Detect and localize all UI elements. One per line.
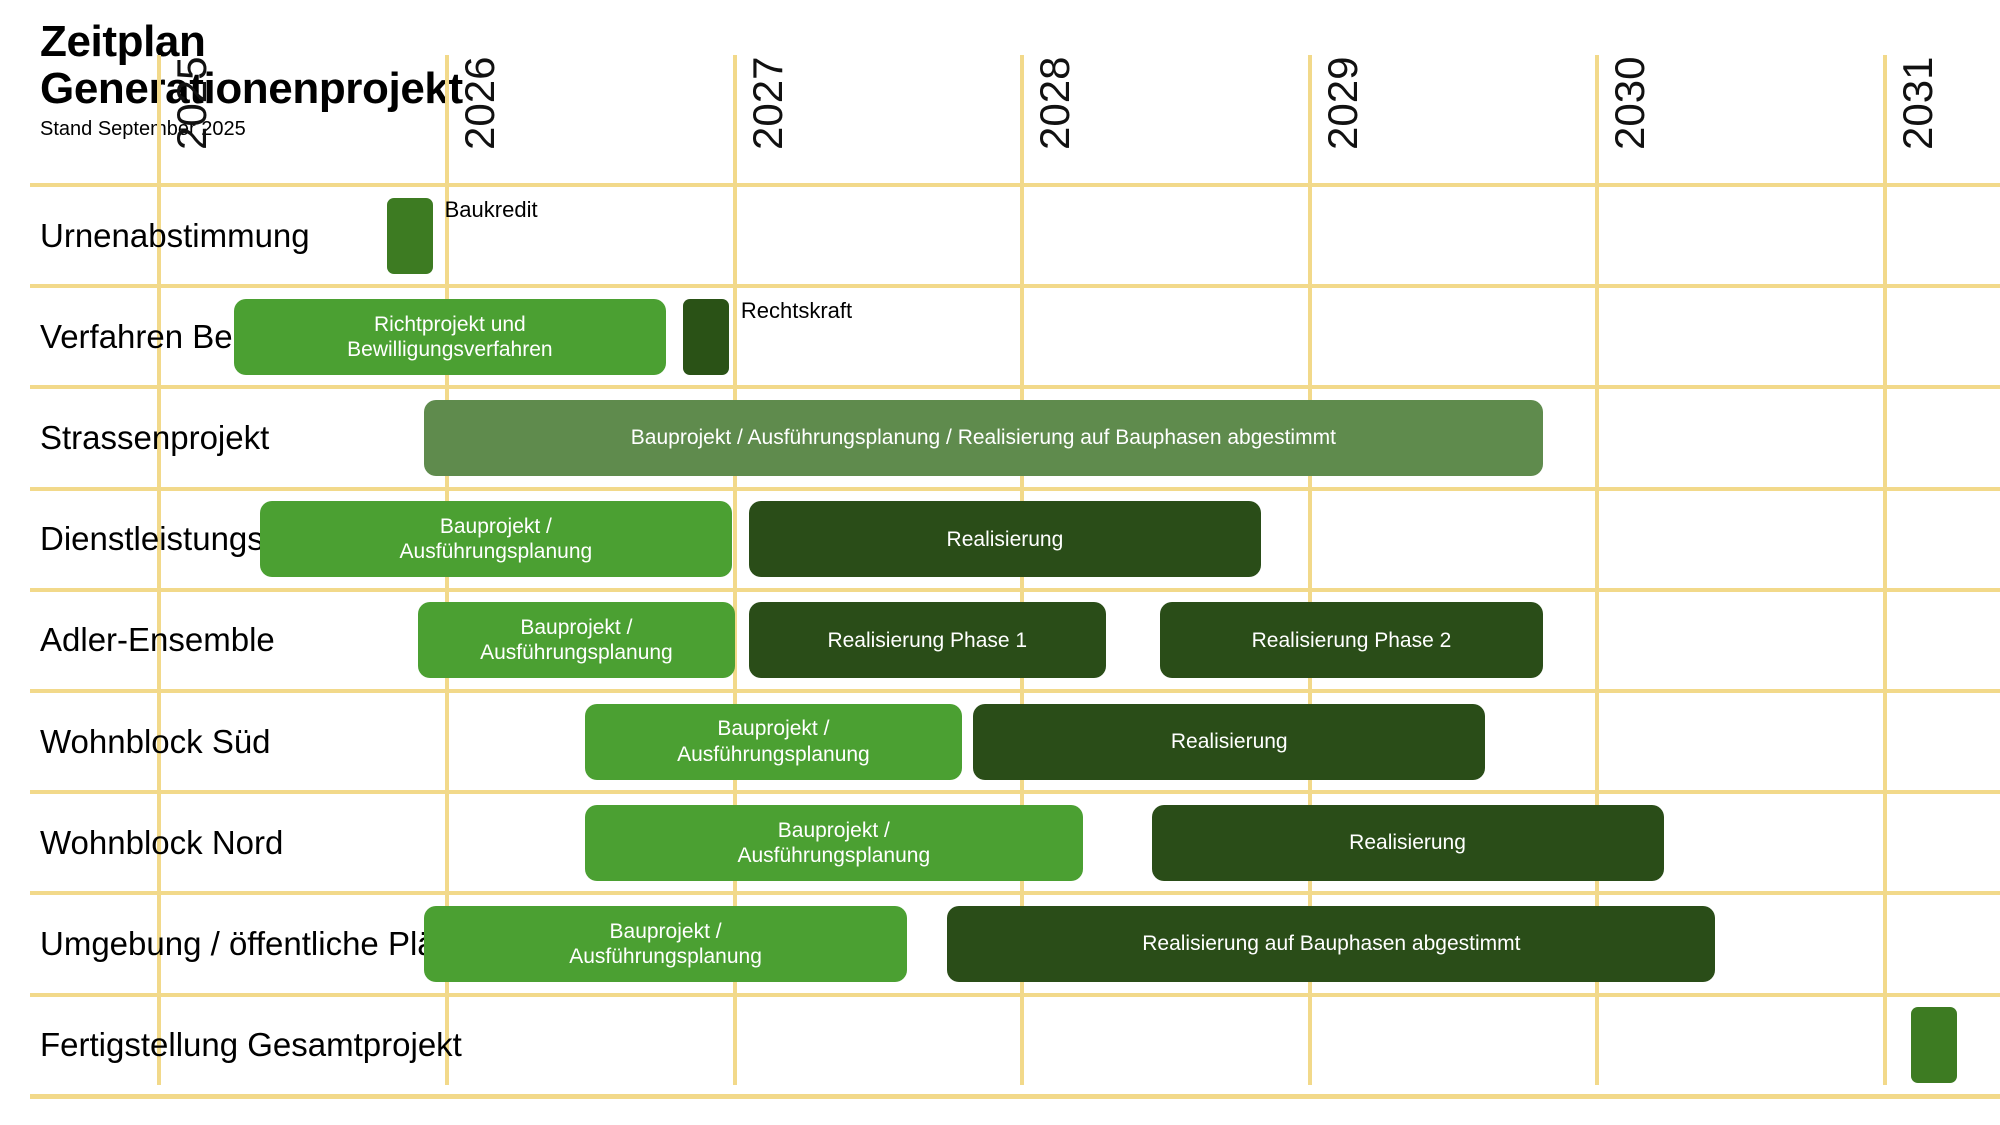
gantt-bar[interactable]: Realisierung (1152, 805, 1664, 881)
gantt-bar[interactable]: Realisierung (749, 501, 1261, 577)
gantt-bar[interactable]: Richtprojekt und Bewilligungsverfahren (234, 299, 665, 375)
row-separator-0 (30, 183, 2000, 187)
year-label-2027: 2027 (744, 30, 794, 150)
gantt-bar[interactable]: Realisierung Phase 1 (749, 602, 1106, 678)
year-label-2025: 2025 (168, 30, 218, 150)
row-separator-3 (30, 487, 2000, 491)
gantt-bar-label: Realisierung (1349, 830, 1466, 855)
gantt-bar-label: Realisierung (1171, 729, 1288, 754)
year-label-2026: 2026 (456, 30, 506, 150)
row-separator-7 (30, 891, 2000, 895)
gantt-bar-label: Realisierung Phase 2 (1252, 628, 1452, 653)
gantt-bar[interactable] (387, 198, 433, 274)
gantt-bar-label: Bauprojekt / Ausführungsplanung (569, 919, 762, 969)
milestone-caption: Rechtskraft (741, 300, 852, 322)
row-separator-9 (30, 1094, 2000, 1099)
gantt-bar[interactable]: Realisierung auf Bauphasen abgestimmt (947, 906, 1715, 982)
gantt-bar-label: Richtprojekt und Bewilligungsverfahren (347, 312, 552, 362)
gantt-bar-label: Bauprojekt / Ausführungsplanung / Realis… (631, 425, 1336, 450)
row-separator-4 (30, 588, 2000, 592)
row-label-urnenabstimmung: Urnenabstimmung (40, 219, 310, 252)
row-label-wohnblock-nord: Wohnblock Nord (40, 826, 283, 859)
gantt-bar[interactable]: Bauprojekt / Ausführungsplanung (260, 501, 732, 577)
row-separator-5 (30, 689, 2000, 693)
gantt-chart: Zeitplan Generationenprojekt Stand Septe… (0, 0, 2000, 1125)
page-title-line-1: Zeitplan (40, 18, 660, 65)
year-label-2030: 2030 (1606, 30, 1656, 150)
gantt-bar[interactable]: Bauprojekt / Ausführungsplanung / Realis… (424, 400, 1543, 476)
gantt-bar[interactable]: Bauprojekt / Ausführungsplanung (418, 602, 734, 678)
row-label-umgebung-offentliche-platze: Umgebung / öffentliche Plätze (40, 927, 480, 960)
gantt-bar[interactable]: Bauprojekt / Ausführungsplanung (424, 906, 907, 982)
gantt-bar-label: Realisierung auf Bauphasen abgestimmt (1142, 931, 1520, 956)
gantt-bar[interactable] (1911, 1007, 1957, 1083)
page-title-line-2: Generationenprojekt (40, 65, 660, 112)
gantt-bar[interactable]: Realisierung Phase 2 (1160, 602, 1542, 678)
title-block: Zeitplan Generationenprojekt Stand Septe… (40, 18, 660, 140)
gantt-bar-label: Bauprojekt / Ausführungsplanung (737, 818, 930, 868)
gantt-bar[interactable]: Realisierung (973, 704, 1485, 780)
row-separator-6 (30, 790, 2000, 794)
row-separator-1 (30, 284, 2000, 288)
gantt-bar-label: Bauprojekt / Ausführungsplanung (480, 615, 673, 665)
year-label-2029: 2029 (1319, 30, 1369, 150)
row-separator-2 (30, 385, 2000, 389)
row-separator-8 (30, 993, 2000, 997)
milestone-caption: Baukredit (445, 199, 538, 221)
gridline-year-2031 (1883, 55, 1887, 1085)
gantt-bar-label: Bauprojekt / Ausführungsplanung (400, 514, 593, 564)
row-label-adler-ensemble: Adler-Ensemble (40, 623, 275, 656)
gantt-bar[interactable] (683, 299, 729, 375)
row-label-strassenprojekt: Strassenprojekt (40, 421, 269, 454)
year-label-2028: 2028 (1031, 30, 1081, 150)
gantt-bar-label: Realisierung Phase 1 (827, 628, 1027, 653)
page-subtitle: Stand September 2025 (40, 118, 660, 140)
year-label-2031: 2031 (1894, 30, 1944, 150)
gantt-bar-label: Realisierung (947, 527, 1064, 552)
row-label-fertigstellung-gesamtprojekt: Fertigstellung Gesamtprojekt (40, 1028, 462, 1061)
gantt-bar[interactable]: Bauprojekt / Ausführungsplanung (585, 805, 1083, 881)
row-label-wohnblock-sud: Wohnblock Süd (40, 725, 271, 758)
gantt-bar[interactable]: Bauprojekt / Ausführungsplanung (585, 704, 962, 780)
gantt-bar-label: Bauprojekt / Ausführungsplanung (677, 716, 870, 766)
